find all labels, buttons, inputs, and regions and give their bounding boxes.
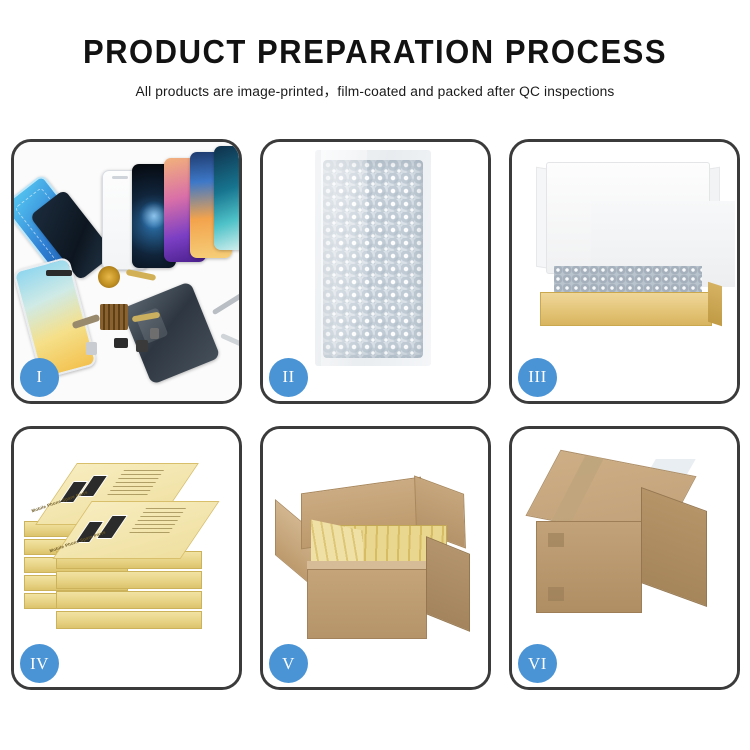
chip-part-icon <box>114 338 128 348</box>
flex-cable-part-icon <box>126 269 157 281</box>
step-badge-1: I <box>20 358 59 397</box>
process-step-panel-2: II <box>260 139 491 404</box>
phone-teal-gradient-icon <box>214 146 239 250</box>
product-preparation-infographic: PRODUCT PREPARATION PROCESS All products… <box>0 0 750 750</box>
process-step-panel-6: VI <box>509 426 740 691</box>
kraft-box-front <box>540 292 712 326</box>
camera-module-part-icon <box>136 340 148 352</box>
process-step-panel-5: V <box>260 426 491 691</box>
page-subtitle: All products are image-printed，film-coat… <box>11 81 739 101</box>
carton-front-face <box>307 569 427 639</box>
sealed-carton-right-face <box>641 486 707 606</box>
process-step-grid: I II III <box>11 139 740 690</box>
battery-part-icon <box>86 342 97 355</box>
circuit-board-part-icon <box>100 304 128 330</box>
phone-back-housing-icon <box>121 281 220 385</box>
carton-hand-hole <box>548 533 564 547</box>
carton-hand-hole <box>548 587 564 601</box>
step-badge-3: III <box>518 358 557 397</box>
retail-box-edge <box>56 611 202 629</box>
retail-box-edge <box>56 591 202 609</box>
kraft-box-side <box>708 282 722 327</box>
process-step-panel-3: III <box>509 139 740 404</box>
connector-part-icon <box>150 328 159 339</box>
step-badge-6: VI <box>518 644 557 683</box>
step-badge-5: V <box>269 644 308 683</box>
plastic-gloss-highlight <box>321 150 367 366</box>
speaker-coil-part-icon <box>98 266 120 288</box>
process-step-panel-4: Mobile Phone Spare Parts Mobile Phone Sp… <box>11 426 242 691</box>
box-white-lid <box>546 162 710 274</box>
retail-box-edge <box>56 571 202 589</box>
tweezers-tool-icon <box>212 290 239 315</box>
retail-box-stack: Mobile Phone Spare Parts Mobile Phone Sp… <box>20 447 236 647</box>
screwdriver-tool-icon <box>220 333 239 348</box>
header: PRODUCT PREPARATION PROCESS All products… <box>0 0 750 101</box>
page-title: PRODUCT PREPARATION PROCESS <box>23 34 728 71</box>
process-step-panel-1: I <box>11 139 242 404</box>
carton-right-face <box>426 536 470 632</box>
step-badge-2: II <box>269 358 308 397</box>
step-badge-4: IV <box>20 644 59 683</box>
earpiece-part-icon <box>46 270 72 276</box>
